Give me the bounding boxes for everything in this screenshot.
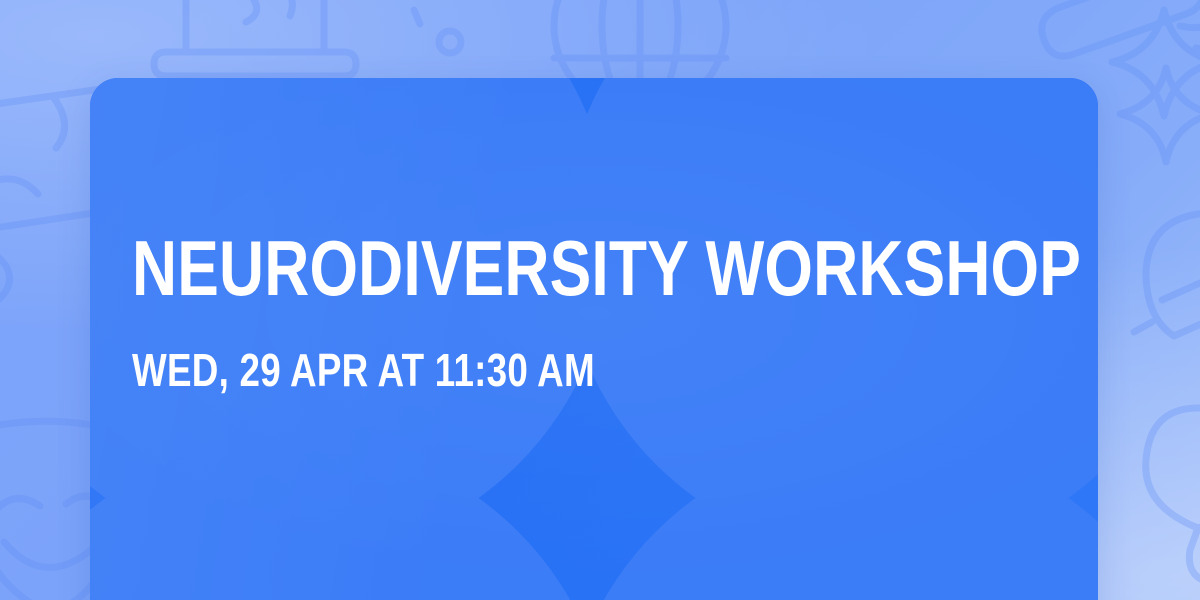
event-datetime: Wed, 29 Apr at 11:30 AM (132, 347, 852, 393)
event-banner: Neurodiversity Workshop Wed, 29 Apr at 1… (0, 0, 1200, 600)
event-title: Neurodiversity Workshop (132, 231, 852, 305)
event-card[interactable]: Neurodiversity Workshop Wed, 29 Apr at 1… (90, 78, 1098, 600)
event-card-content: Neurodiversity Workshop Wed, 29 Apr at 1… (132, 78, 1032, 600)
